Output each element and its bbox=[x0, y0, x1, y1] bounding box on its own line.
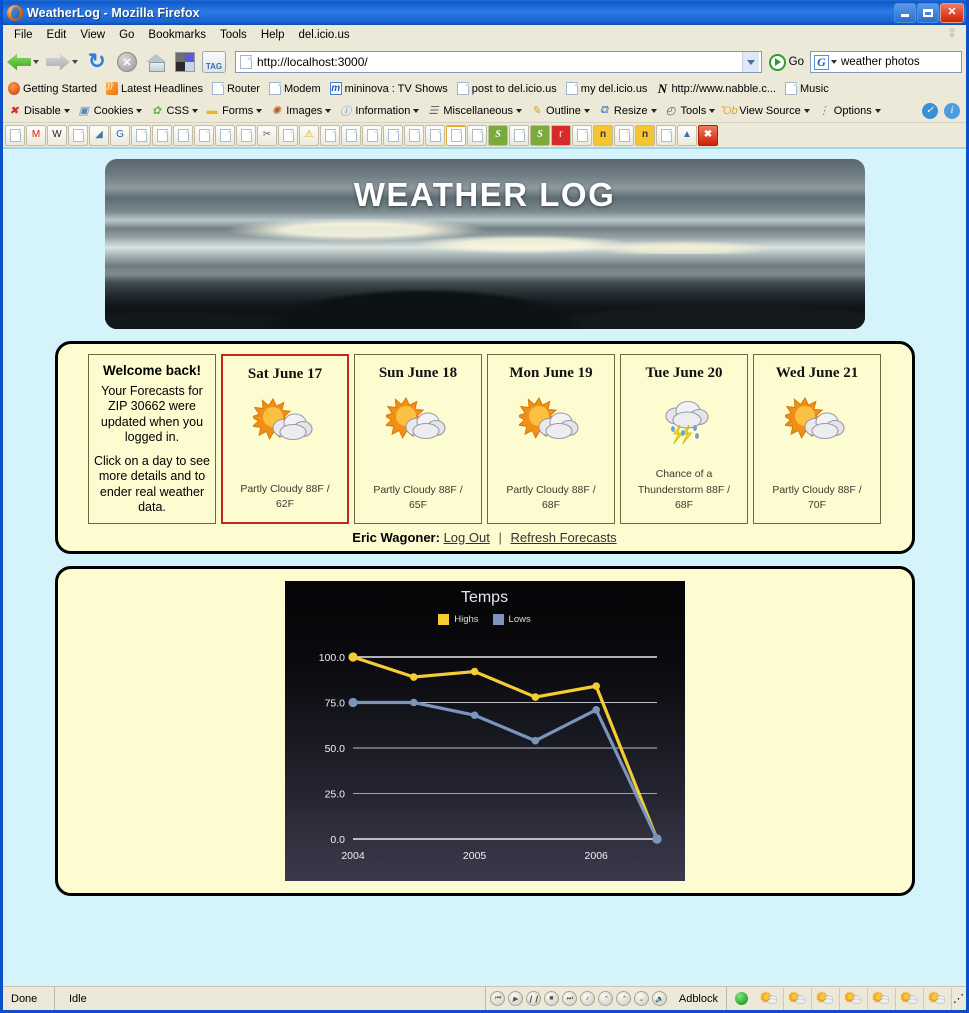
prev-icon[interactable]: ⏮ bbox=[490, 991, 505, 1006]
x-axis-tick: 2005 bbox=[462, 850, 486, 862]
page-glyph-icon bbox=[157, 129, 168, 142]
page-glyph-icon bbox=[451, 129, 462, 142]
quad-panel-icon[interactable] bbox=[175, 52, 195, 72]
welcome-paragraph-1: Your Forecasts for ZIP 30662 were update… bbox=[93, 384, 211, 445]
address-bar[interactable]: http://localhost:3000/ bbox=[235, 51, 762, 73]
menu-delicious[interactable]: del.icio.us bbox=[291, 27, 356, 43]
y-axis-tick: 75.0 bbox=[324, 698, 345, 710]
bookmark-label: Music bbox=[800, 83, 829, 95]
search-bar[interactable]: G weather photos bbox=[810, 51, 962, 73]
page-icon[interactable] bbox=[173, 125, 193, 146]
forecast-date: Sun June 18 bbox=[361, 365, 475, 382]
webdev-label: Outline bbox=[546, 105, 581, 117]
webdev-label: Options bbox=[834, 105, 872, 117]
volume-icon[interactable]: 🔈 bbox=[652, 991, 667, 1006]
rss-icon bbox=[106, 82, 118, 95]
forecast-date: Mon June 19 bbox=[494, 365, 608, 382]
forecast-description: Chance of a Thunderstorm 88F / 68F bbox=[627, 467, 741, 513]
chart-panel: Temps Highs Lows 0.025.050.075.0100.0200… bbox=[55, 566, 915, 896]
webdev-label: Cookies bbox=[94, 105, 134, 117]
forecast-card-mon[interactable]: Mon June 19 Partly Cloudy 88F bbox=[487, 354, 615, 524]
page-icon[interactable] bbox=[194, 125, 214, 146]
forecast-panel: Welcome back! Your Forecasts for ZIP 306… bbox=[55, 341, 915, 554]
bookmark-nabble[interactable]: Nhttp://www.nabble.c... bbox=[656, 82, 776, 95]
page-icon[interactable] bbox=[320, 125, 340, 146]
chevron-down-icon bbox=[651, 109, 657, 113]
title-bar: WeatherLog - Mozilla Firefox ✕ bbox=[3, 0, 966, 25]
page-icon[interactable] bbox=[131, 125, 151, 146]
address-input[interactable]: http://localhost:3000/ bbox=[257, 55, 742, 69]
data-point bbox=[531, 737, 539, 745]
resize-icon: ⧉ bbox=[597, 104, 611, 118]
menu-bar: File Edit View Go Bookmarks Tools Help d… bbox=[3, 25, 966, 46]
forecast-description: Partly Cloudy 88F / 68F bbox=[494, 483, 608, 513]
forecast-date: Wed June 21 bbox=[760, 365, 874, 382]
page-icon[interactable] bbox=[362, 125, 382, 146]
active-page-icon[interactable] bbox=[446, 125, 466, 146]
menu-help[interactable]: Help bbox=[254, 27, 292, 43]
chevron-down-icon bbox=[516, 109, 522, 113]
search-input[interactable]: weather photos bbox=[841, 56, 920, 68]
page-glyph-icon bbox=[514, 129, 525, 142]
page-icon[interactable] bbox=[152, 125, 172, 146]
chevron-down-icon bbox=[136, 109, 142, 113]
status-text: Done bbox=[3, 987, 55, 1010]
page-glyph-icon bbox=[220, 129, 231, 142]
menu-go[interactable]: Go bbox=[112, 27, 141, 43]
info-icon: ⓘ bbox=[338, 104, 352, 118]
options-icon: ⋮ bbox=[817, 104, 831, 118]
bookmark-router[interactable]: Router bbox=[212, 82, 260, 95]
bookmark-getting-started[interactable]: Getting Started bbox=[8, 82, 97, 95]
data-point bbox=[592, 682, 600, 690]
page-glyph-icon bbox=[199, 129, 210, 142]
page-glyph-icon bbox=[178, 129, 189, 142]
maximize-button[interactable] bbox=[917, 3, 939, 23]
search-engine-chevron-icon[interactable] bbox=[831, 60, 837, 64]
puzzle-icon: ✿ bbox=[149, 104, 163, 118]
forecast-description: Partly Cloudy 88F / 70F bbox=[760, 483, 874, 513]
webdev-resize[interactable]: ⧉Resize bbox=[597, 104, 657, 118]
user-row: Eric Wagoner: Log Out | Refresh Forecast… bbox=[68, 530, 902, 545]
clock-icon: ◴ bbox=[664, 104, 678, 118]
webdeveloper-toolbar: ✖Disable▣Cookies✿CSS▬Forms✺ImagesⓘInform… bbox=[3, 99, 966, 123]
list-icon: ☰ bbox=[426, 104, 440, 118]
page-banner: WEATHER LOG bbox=[105, 159, 865, 329]
menu-edit[interactable]: Edit bbox=[40, 27, 74, 43]
stumbleupon-icon[interactable]: S bbox=[530, 125, 550, 146]
forecast-description: Partly Cloudy 88F / 62F bbox=[229, 482, 341, 512]
info-circle-icon[interactable]: i bbox=[944, 103, 960, 119]
page-glyph-icon bbox=[241, 129, 252, 142]
partly-cloudy-icon bbox=[494, 386, 608, 458]
stop-button[interactable] bbox=[117, 52, 137, 72]
page-glyph-icon bbox=[346, 129, 357, 142]
chevron-down-icon bbox=[875, 109, 881, 113]
page-glyph-icon bbox=[661, 129, 672, 142]
collapse-icon[interactable]: ⌃ bbox=[616, 991, 631, 1006]
go-button[interactable]: Go bbox=[769, 54, 804, 71]
forecast-description: Partly Cloudy 88F / 65F bbox=[361, 483, 475, 513]
media-controls: ⏮▶❙❙■⏭♪⌃⌃⌄🔈 bbox=[486, 991, 671, 1006]
lock-icon: ▬ bbox=[205, 104, 219, 118]
window-title: WeatherLog - Mozilla Firefox bbox=[27, 6, 200, 20]
page-glyph-icon bbox=[577, 129, 588, 142]
bookmark-latest-headlines[interactable]: Latest Headlines bbox=[106, 82, 203, 95]
bookmark-label: http://www.nabble.c... bbox=[671, 83, 776, 95]
logout-link[interactable]: Log Out bbox=[444, 530, 490, 545]
page-icon[interactable] bbox=[383, 125, 403, 146]
page-icon[interactable] bbox=[425, 125, 445, 146]
nabble-icon: N bbox=[656, 82, 668, 95]
netvibes-icon[interactable]: n bbox=[635, 125, 655, 146]
status-bar: Done Idle ⏮▶❙❙■⏭♪⌃⌃⌄🔈 Adblock ⋰ bbox=[3, 986, 966, 1010]
webdev-options[interactable]: ⋮Options bbox=[817, 104, 881, 118]
scissors-icon[interactable]: ✂ bbox=[257, 125, 277, 146]
note-icon[interactable]: ♪ bbox=[580, 991, 595, 1006]
page-icon[interactable] bbox=[236, 125, 256, 146]
bookmark-my-delicious[interactable]: my del.icio.us bbox=[566, 82, 648, 95]
bookmark-music[interactable]: Music bbox=[785, 82, 829, 95]
data-point bbox=[652, 834, 661, 843]
forecast-card-wed[interactable]: Wed June 21 Partly Cloudy 88F bbox=[753, 354, 881, 524]
page-icon bbox=[566, 82, 578, 95]
partly-cloudy-icon[interactable] bbox=[840, 988, 868, 1010]
bookmark-label: Latest Headlines bbox=[121, 83, 203, 95]
back-button[interactable] bbox=[7, 52, 44, 72]
partly-cloudy-icon[interactable] bbox=[812, 988, 840, 1010]
partly-cloudy-icon[interactable] bbox=[924, 988, 952, 1010]
stop-icon[interactable]: ■ bbox=[544, 991, 559, 1006]
bookmark-label: my del.icio.us bbox=[581, 83, 648, 95]
webdev-label: Resize bbox=[614, 105, 648, 117]
menu-view[interactable]: View bbox=[73, 27, 112, 43]
pause-icon[interactable]: ❙❙ bbox=[526, 991, 541, 1006]
reload-button[interactable] bbox=[88, 52, 110, 72]
webdev-label: CSS bbox=[166, 105, 189, 117]
webdev-cookies[interactable]: ▣Cookies bbox=[77, 104, 143, 118]
page-glyph-icon bbox=[472, 129, 483, 142]
wikipedia-icon[interactable]: W bbox=[47, 125, 67, 146]
webdev-tools[interactable]: ◴Tools bbox=[664, 104, 716, 118]
weather-status-icons bbox=[756, 988, 952, 1010]
webdev-disable[interactable]: ✖Disable bbox=[7, 104, 70, 118]
warning-page-icon[interactable]: ⚠ bbox=[299, 125, 319, 146]
page-icon bbox=[269, 82, 281, 95]
webdev-label: Information bbox=[355, 105, 410, 117]
y-axis-tick: 0.0 bbox=[330, 834, 345, 846]
bookmark-label: Router bbox=[227, 83, 260, 95]
webdev-css[interactable]: ✿CSS bbox=[149, 104, 198, 118]
extension-toolbar: MW◢G✂⚠SSгnn▲✖ bbox=[3, 123, 966, 149]
chevron-down-icon bbox=[256, 109, 262, 113]
chevron-down-icon bbox=[709, 109, 715, 113]
data-point bbox=[410, 699, 418, 707]
go-label: Go bbox=[789, 56, 804, 68]
page-icon bbox=[212, 82, 224, 95]
menu-bookmarks[interactable]: Bookmarks bbox=[141, 27, 213, 43]
y-axis-tick: 25.0 bbox=[324, 789, 345, 801]
google-search-icon[interactable]: G bbox=[814, 55, 829, 70]
bookmark-label: post to del.icio.us bbox=[472, 83, 557, 95]
netvibes-icon[interactable]: n bbox=[593, 125, 613, 146]
forecast-date: Sat June 17 bbox=[229, 366, 341, 383]
page-viewport: WEATHER LOG Welcome back! Your Forecasts… bbox=[3, 149, 966, 986]
welcome-title: Welcome back! bbox=[93, 363, 211, 378]
menu-tools[interactable]: Tools bbox=[213, 27, 254, 43]
google-icon[interactable]: G bbox=[110, 125, 130, 146]
user-name: Eric Wagoner: bbox=[352, 530, 440, 545]
up-icon[interactable]: ⌃ bbox=[598, 991, 613, 1006]
data-point bbox=[592, 706, 600, 714]
page-icon[interactable] bbox=[341, 125, 361, 146]
throbber-icon bbox=[945, 28, 959, 42]
webdev-information[interactable]: ⓘInformation bbox=[338, 104, 419, 118]
page-icon[interactable] bbox=[467, 125, 487, 146]
page-glyph-icon bbox=[73, 129, 84, 142]
x-axis-tick: 2004 bbox=[341, 850, 365, 862]
close-button[interactable]: ✕ bbox=[940, 3, 964, 23]
page-icon[interactable] bbox=[572, 125, 592, 146]
page-icon[interactable] bbox=[215, 125, 235, 146]
bookmark-mininova[interactable]: mmininova : TV Shows bbox=[330, 82, 448, 95]
y-axis-tick: 50.0 bbox=[324, 743, 345, 755]
page-icon bbox=[785, 82, 797, 95]
play-icon[interactable]: ▶ bbox=[508, 991, 523, 1006]
webdev-label: Miscellaneous bbox=[443, 105, 513, 117]
welcome-card: Welcome back! Your Forecasts for ZIP 306… bbox=[88, 354, 216, 524]
page-icon[interactable] bbox=[614, 125, 634, 146]
partly-cloudy-icon bbox=[229, 387, 341, 459]
browser-window: WeatherLog - Mozilla Firefox ✕ File Edit… bbox=[0, 0, 969, 1013]
page-glyph-icon bbox=[430, 129, 441, 142]
webdev-label: Images bbox=[286, 105, 322, 117]
x-axis-tick: 2006 bbox=[584, 850, 608, 862]
page-glyph-icon bbox=[10, 129, 21, 142]
images-icon: ✺ bbox=[269, 104, 283, 118]
forward-button[interactable] bbox=[46, 52, 83, 72]
adblock-status[interactable]: Adblock bbox=[671, 987, 727, 1010]
chart-icon[interactable]: ▲ bbox=[677, 125, 697, 146]
page-glyph-icon bbox=[136, 129, 147, 142]
idle-text: Idle bbox=[55, 987, 486, 1010]
webdev-images[interactable]: ✺Images bbox=[269, 104, 331, 118]
webdev-miscellaneous[interactable]: ☰Miscellaneous bbox=[426, 104, 522, 118]
chevron-down-icon bbox=[325, 109, 331, 113]
temps-chart: Temps Highs Lows 0.025.050.075.0100.0200… bbox=[285, 581, 685, 881]
page-glyph-icon bbox=[388, 129, 399, 142]
thunderstorm-icon bbox=[627, 386, 741, 458]
bookmark-modem[interactable]: Modem bbox=[269, 82, 321, 95]
next-icon[interactable]: ⏭ bbox=[562, 991, 577, 1006]
close-icon[interactable]: ✖ bbox=[698, 125, 718, 146]
page-glyph-icon bbox=[409, 129, 420, 142]
partly-cloudy-icon[interactable] bbox=[784, 988, 812, 1010]
gmail-icon[interactable]: M bbox=[26, 125, 46, 146]
page-glyph-icon bbox=[283, 129, 294, 142]
chevron-down-icon bbox=[584, 109, 590, 113]
mininova-icon: m bbox=[330, 82, 342, 95]
page-glyph-icon bbox=[619, 129, 630, 142]
data-point bbox=[410, 673, 418, 681]
webdev-label: View Source bbox=[739, 105, 801, 117]
partly-cloudy-icon bbox=[760, 386, 874, 458]
clipboard-icon: Ὄb bbox=[722, 104, 736, 118]
chevron-down-icon bbox=[413, 109, 419, 113]
webdev-forms[interactable]: ▬Forms bbox=[205, 104, 262, 118]
bookmarks-toolbar: Getting Started Latest Headlines Router … bbox=[3, 78, 966, 99]
forecast-card-sun[interactable]: Sun June 18 Partly Cloudy 88F bbox=[354, 354, 482, 524]
page-icon[interactable] bbox=[404, 125, 424, 146]
pencil-icon: ✎ bbox=[529, 104, 543, 118]
bookmark-label: Modem bbox=[284, 83, 321, 95]
rojo-icon[interactable]: г bbox=[551, 125, 571, 146]
chevron-down-icon bbox=[64, 109, 70, 113]
page-icon bbox=[457, 82, 469, 95]
chevron-down-icon bbox=[804, 109, 810, 113]
stumbleupon-icon[interactable]: S bbox=[488, 125, 508, 146]
welcome-paragraph-2: Click on a day to see more details and t… bbox=[93, 454, 211, 515]
status-indicator-icon[interactable] bbox=[735, 992, 748, 1005]
navigation-toolbar: TAG http://localhost:3000/ Go G weather … bbox=[3, 46, 966, 78]
bookmark-post-to-delicious[interactable]: post to del.icio.us bbox=[457, 82, 557, 95]
page-glyph-icon bbox=[325, 129, 336, 142]
data-point bbox=[348, 698, 357, 707]
forecast-date: Tue June 20 bbox=[627, 365, 741, 382]
webdev-label: Disable bbox=[24, 105, 61, 117]
partly-cloudy-icon bbox=[361, 386, 475, 458]
y-axis-tick: 100.0 bbox=[318, 652, 344, 664]
data-point bbox=[470, 711, 478, 719]
bookmark-label: mininova : TV Shows bbox=[345, 83, 448, 95]
page-glyph-icon bbox=[367, 129, 378, 142]
data-point bbox=[348, 652, 357, 661]
upload-icon[interactable]: ◢ bbox=[89, 125, 109, 146]
go-icon bbox=[769, 54, 786, 71]
forecast-cards: Welcome back! Your Forecasts for ZIP 306… bbox=[68, 354, 902, 524]
address-dropdown-icon[interactable] bbox=[742, 52, 759, 72]
minimize-button[interactable] bbox=[894, 3, 916, 23]
webdev-label: Forms bbox=[222, 105, 253, 117]
partly-cloudy-icon[interactable] bbox=[868, 988, 896, 1010]
menu-file[interactable]: File bbox=[7, 27, 40, 43]
partly-cloudy-icon[interactable] bbox=[896, 988, 924, 1010]
forecast-card-tue[interactable]: Tue June 20 bbox=[620, 354, 748, 524]
refresh-forecasts-link[interactable]: Refresh Forecasts bbox=[510, 530, 616, 545]
down-icon[interactable]: ⌄ bbox=[634, 991, 649, 1006]
partly-cloudy-icon[interactable] bbox=[756, 988, 784, 1010]
page-icon[interactable] bbox=[68, 125, 88, 146]
page-icon[interactable] bbox=[509, 125, 529, 146]
firefox-icon bbox=[8, 82, 20, 95]
cookies-icon: ▣ bbox=[77, 104, 91, 118]
tag-button[interactable]: TAG bbox=[202, 51, 226, 73]
check-circle-icon[interactable]: ✓ bbox=[922, 103, 938, 119]
webdev-outline[interactable]: ✎Outline bbox=[529, 104, 590, 118]
red-x-icon: ✖ bbox=[7, 104, 21, 118]
new-page-icon[interactable] bbox=[5, 125, 25, 146]
resize-grip[interactable]: ⋰ bbox=[952, 990, 966, 1007]
data-point bbox=[470, 668, 478, 676]
data-point bbox=[531, 693, 539, 701]
firefox-icon bbox=[7, 5, 23, 21]
bookmark-label: Getting Started bbox=[23, 83, 97, 95]
webdev-label: Tools bbox=[681, 105, 707, 117]
page-icon[interactable] bbox=[656, 125, 676, 146]
page-favicon-icon bbox=[240, 55, 252, 69]
webdev-view-source[interactable]: ὌbView Source bbox=[722, 104, 810, 118]
page-icon[interactable] bbox=[278, 125, 298, 146]
forecast-card-sat[interactable]: Sat June 17 bbox=[221, 354, 349, 524]
page-title: WEATHER LOG bbox=[354, 176, 616, 214]
home-button[interactable] bbox=[145, 52, 167, 72]
chevron-down-icon bbox=[192, 109, 198, 113]
chart-plot: 0.025.050.075.0100.0200420052006 bbox=[285, 581, 685, 881]
link-separator: | bbox=[498, 530, 501, 545]
